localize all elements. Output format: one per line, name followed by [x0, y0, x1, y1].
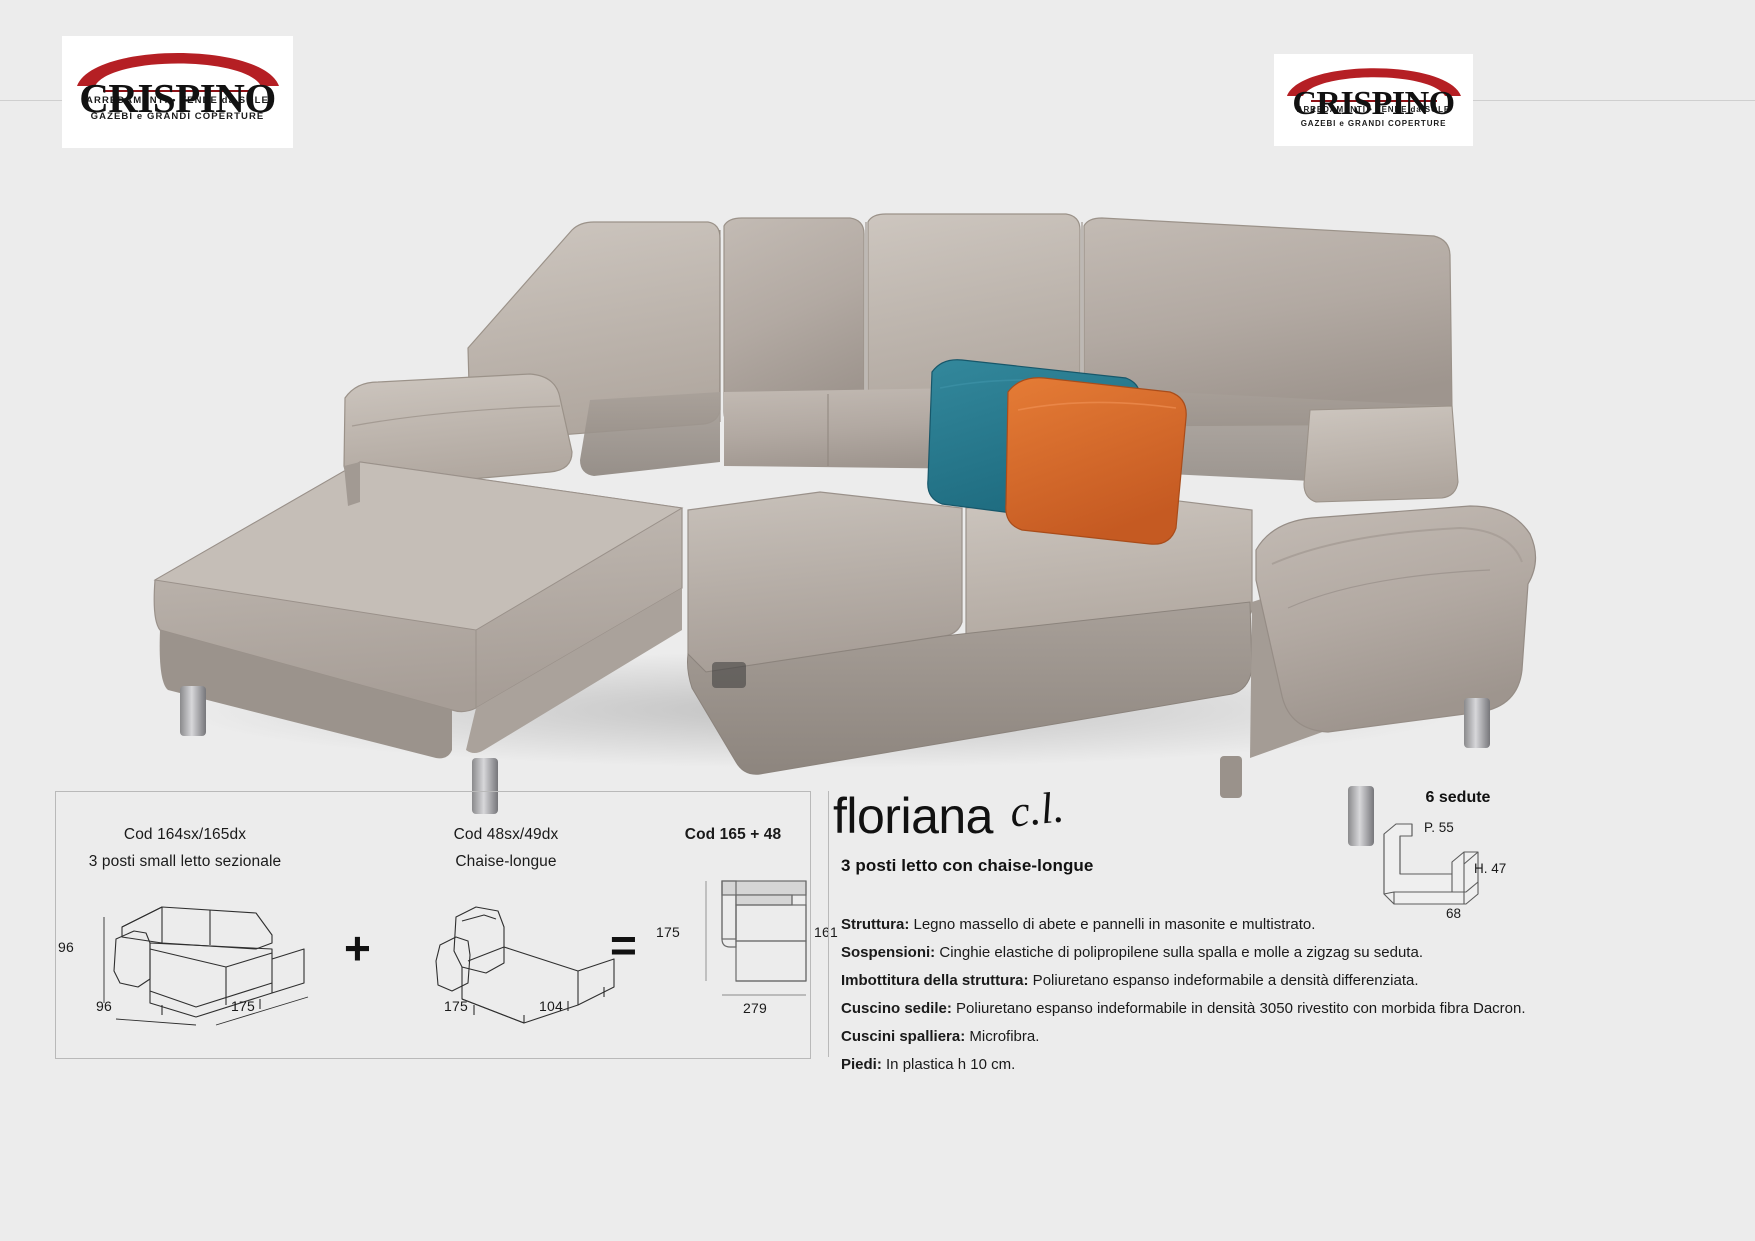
spec-text: Cinghie elastiche di polipropilene sulla… [935, 944, 1423, 961]
spec-text: Poliuretano espanso indeformabile a dens… [1029, 972, 1419, 989]
catalog-page: CRISPINO ARREDAMENTI • TENDE da SOLE GAZ… [0, 0, 1755, 1241]
spec-row: Imbottitura della struttura: Poliuretano… [841, 968, 1541, 993]
spec-label: Piedi: [841, 1056, 882, 1073]
spec-row: Sospensioni: Cinghie elastiche di polipr… [841, 940, 1541, 965]
spec-text: In plastica h 10 cm. [882, 1056, 1015, 1073]
seating-title: 6 sedute [1383, 789, 1533, 807]
spec-label: Cuscino sedile: [841, 1000, 952, 1017]
spec-row: Piedi: In plastica h 10 cm. [841, 1052, 1541, 1077]
combination-item-2: Cod 48sx/49dx Chaise-longue 175 104 [386, 792, 626, 1058]
combo-2-dim-width: 175 [444, 998, 468, 1014]
spec-label: Cuscini spalliera: [841, 1028, 965, 1045]
seating-depth-label: P. 55 [1424, 820, 1454, 835]
spec-label: Struttura: [841, 916, 909, 933]
seating-width-label: 68 [1446, 906, 1461, 921]
combo-3-drawing [666, 877, 810, 1007]
guide-line-right [1473, 100, 1755, 101]
combo-1-drawing [76, 887, 316, 1027]
combination-panel: Cod 164sx/165dx 3 posti small letto sezi… [55, 791, 811, 1059]
combination-item-1: Cod 164sx/165dx 3 posti small letto sezi… [56, 792, 314, 1058]
specs-list: Struttura: Legno massello di abete e pan… [841, 912, 1541, 1080]
spec-row: Cuscini spalliera: Microfibra. [841, 1024, 1541, 1049]
operator-plus: + [344, 925, 371, 971]
combo-3-dim-left: 175 [656, 924, 680, 940]
product-name-suffix: c.l. [1007, 781, 1066, 837]
combo-1-description: 3 posti small letto sezionale [56, 848, 314, 875]
operator-equals: = [610, 922, 637, 968]
panel-divider [828, 791, 829, 1057]
product-name: floriana [833, 787, 993, 845]
product-photo [60, 110, 1540, 770]
combo-2-code: Cod 48sx/49dx [386, 821, 626, 848]
combo-2-dim-depth: 104 [539, 998, 563, 1014]
product-subtitle: 3 posti letto con chaise-longue [841, 856, 1093, 876]
combo-1-code: Cod 164sx/165dx [56, 821, 314, 848]
combo-3-dim-right: 161 [814, 924, 838, 940]
spec-row: Cuscino sedile: Poliuretano espanso inde… [841, 996, 1541, 1021]
guide-line-left [0, 100, 62, 101]
combo-1-dim-height: 96 [58, 939, 74, 955]
spec-text: Legno massello di abete e pannelli in ma… [909, 916, 1315, 933]
spec-label: Imbottitura della struttura: [841, 972, 1029, 989]
combo-3-dim-bottom: 279 [743, 1000, 767, 1016]
combination-item-3: Cod 165 + 48 175 [656, 792, 810, 1058]
combo-2-description: Chaise-longue [386, 848, 626, 875]
combo-1-dim-width: 175 [231, 998, 255, 1014]
combo-1-dim-depth: 96 [96, 998, 112, 1014]
combo-3-code: Cod 165 + 48 [656, 821, 810, 848]
seating-height-label: H. 47 [1474, 861, 1506, 876]
spec-text: Poliuretano espanso indeformabile in den… [952, 1000, 1526, 1017]
spec-label: Sospensioni: [841, 944, 935, 961]
spec-text: Microfibra. [965, 1028, 1039, 1045]
